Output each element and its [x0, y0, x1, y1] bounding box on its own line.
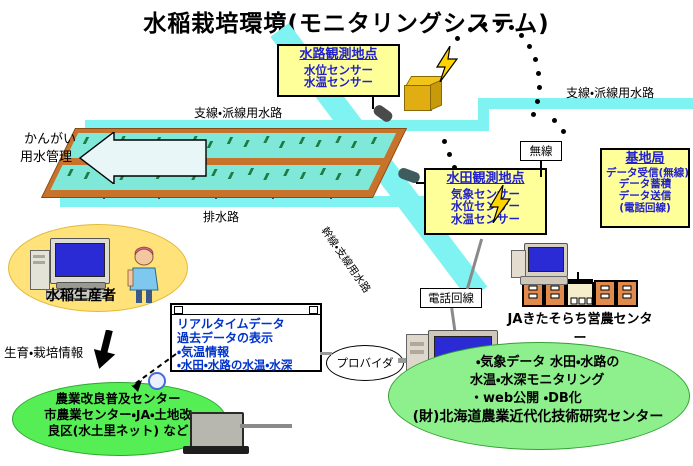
research-center-line-1: ・気象データ 水田・水路の [398, 355, 693, 370]
signal-dot [482, 22, 487, 27]
realtime-line-1: リアルタイムデータ [177, 317, 316, 331]
paddy-observation-line-3: 水温センサー [430, 213, 541, 226]
signal-dot [561, 129, 566, 134]
extension-laptop-screen [190, 412, 244, 450]
signal-dot [536, 71, 541, 76]
irrigation-management-label-line2: 用水管理 [20, 146, 72, 165]
decor-circle [148, 372, 166, 390]
signal-dot [509, 25, 514, 30]
ja-keyboard [520, 276, 568, 285]
center-tower-slot [410, 350, 424, 354]
signal-dot [519, 33, 524, 38]
ja-monitor-screen [528, 247, 564, 272]
radio-signal-bolt [434, 46, 460, 82]
canal-observation-box: 水路観測地点 水位センサー 水温センサー [277, 44, 400, 97]
realtime-line-2: 過去データの表示 [177, 331, 316, 345]
signal-dot [531, 112, 536, 117]
drainage-canal-label: 排水路 [203, 208, 239, 225]
signal-dot [527, 44, 532, 49]
canal-observation-connector [372, 97, 374, 109]
signal-dot [552, 118, 557, 123]
paddy-observation-connector [416, 182, 426, 184]
realtime-line-3: ・気温情報 [177, 345, 316, 359]
producer-tower-slot [33, 255, 45, 258]
signal-dot [537, 85, 542, 90]
paddy-observation-box: 水田観測地点 気象センサー 水位センサー 水温センサー [424, 168, 547, 235]
signal-dot [535, 99, 540, 104]
telephone-line-label-box: 電話回線 [420, 288, 482, 308]
diagram-canvas: 水稲栽培環境(モニタリングシステム) [0, 0, 693, 466]
base-station-line-4: (電話回線) [606, 203, 684, 215]
branch-canal-left-label: 支線・派線用水路 [194, 104, 282, 121]
paddy-observation-header: 水田観測地点 [430, 172, 541, 187]
signal-dot [468, 27, 473, 32]
realtime-line-4: ・水田・水路の水温・水深 [177, 359, 316, 373]
wireless-connector [540, 161, 542, 177]
producer-tower-slot [33, 261, 45, 264]
producer-extension-dashed-arrow [118, 352, 180, 394]
signal-dot [452, 165, 457, 170]
ja-center-label: JAきたそらち営農センター [505, 308, 655, 346]
research-center-line-2: 水温・水深モニタリング [398, 373, 693, 388]
canal-observation-header: 水路観測地点 [283, 48, 394, 63]
producer-monitor-screen [55, 243, 105, 277]
window-titlebar [172, 305, 320, 315]
branch-canal-right-label: 支線・派線用水路 [566, 84, 654, 101]
window-provider-connector [320, 352, 332, 355]
window-control-left[interactable] [174, 306, 183, 314]
window-body: リアルタイムデータ 過去データの表示 ・気温情報 ・水田・水路の水温・水深 [172, 315, 320, 376]
signal-dot [455, 36, 460, 41]
extension-laptop-cable [240, 424, 292, 428]
irrigation-arrow [78, 132, 208, 184]
signal-dot [496, 21, 501, 26]
window-control-right[interactable] [309, 306, 318, 314]
main-canal-diagonal-label: 幹線・支線用水路 [318, 224, 374, 296]
irrigation-management-label-line1: かんがい [24, 128, 76, 147]
extension-center-line-1: 農業改良普及センター [12, 392, 224, 407]
signal-dot [533, 57, 538, 62]
producer-person-icon [124, 246, 164, 304]
signal-dot [442, 139, 447, 144]
growth-cultivation-info-label: 生育・栽培情報 [4, 342, 83, 361]
base-station-header: 基地局 [606, 152, 684, 167]
growth-info-arrow [94, 330, 118, 370]
realtime-data-window: リアルタイムデータ 過去データの表示 ・気温情報 ・水田・水路の水温・水深 [170, 303, 322, 372]
research-center-line-3: ・web公開 ・DB化 [398, 391, 693, 406]
extension-laptop-base [183, 446, 249, 454]
provider-label: プロバイダ [336, 355, 394, 371]
research-center-name: (財)北海道農業近代化技術研究センター [388, 409, 688, 425]
ja-tower [511, 250, 526, 278]
signal-dot [447, 152, 452, 157]
page-title: 水稲栽培環境(モニタリングシステム) [0, 4, 693, 38]
center-tower-slot [410, 342, 424, 346]
base-station-box: 基地局 データ受信(無線) データ蓄積 データ送信 (電話回線) [600, 148, 690, 228]
canal-observation-line-2: 水温センサー [283, 76, 394, 89]
canal-connector [478, 98, 489, 131]
wireless-label-box: 無線 [520, 141, 562, 161]
radio-signal-bolt [487, 185, 513, 223]
rice-producer-label: 水稲生産者 [46, 285, 116, 305]
